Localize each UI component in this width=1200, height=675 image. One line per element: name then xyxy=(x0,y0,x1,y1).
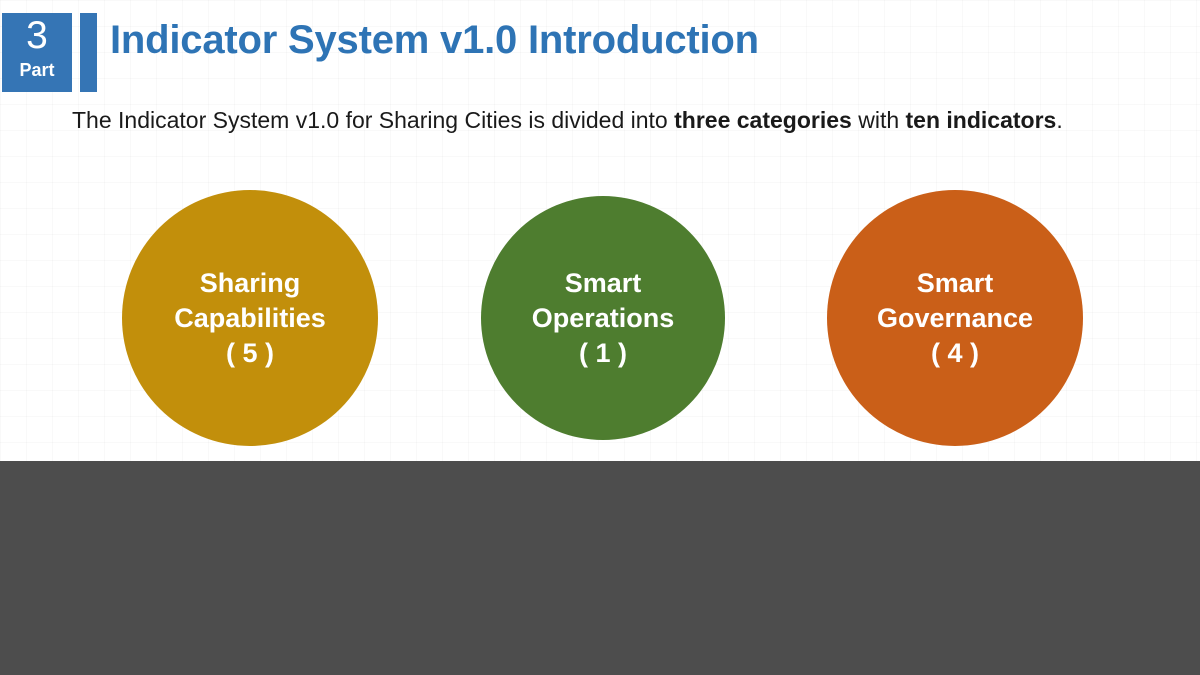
category-line-1: Sharing xyxy=(200,268,301,298)
intro-text-before: The Indicator System v1.0 for Sharing Ci… xyxy=(72,107,674,133)
header-accent-bar xyxy=(80,13,97,92)
intro-text-after: . xyxy=(1056,107,1062,133)
category-circle-smart-governance: Smart Governance ( 4 ) xyxy=(827,190,1083,446)
slide-header: 3 Part Indicator System v1.0 Introductio… xyxy=(0,0,1200,100)
category-circle-label: Smart Operations ( 1 ) xyxy=(518,266,689,371)
category-circle-label: Smart Governance ( 4 ) xyxy=(863,266,1047,371)
category-circle-label: Sharing Capabilities ( 5 ) xyxy=(160,266,340,371)
intro-paragraph: The Indicator System v1.0 for Sharing Ci… xyxy=(72,104,1112,136)
category-count: ( 1 ) xyxy=(579,338,627,368)
category-line-2: Capabilities xyxy=(174,303,326,333)
intro-text-middle: with xyxy=(852,107,906,133)
part-number-badge: 3 Part xyxy=(2,13,72,92)
category-count: ( 5 ) xyxy=(226,338,274,368)
category-circle-sharing-capabilities: Sharing Capabilities ( 5 ) xyxy=(122,190,378,446)
category-circle-smart-operations: Smart Operations ( 1 ) xyxy=(481,196,725,440)
intro-bold-three-categories: three categories xyxy=(674,107,852,133)
category-line-2: Operations xyxy=(532,303,675,333)
category-line-1: Smart xyxy=(917,268,994,298)
category-count: ( 4 ) xyxy=(931,338,979,368)
indicator-band: •Goods and Services •Transportation •Pub… xyxy=(0,461,1200,675)
category-line-1: Smart xyxy=(565,268,642,298)
part-label: Part xyxy=(19,59,54,81)
part-number: 3 xyxy=(26,15,48,57)
intro-bold-ten-indicators: ten indicators xyxy=(906,107,1057,133)
page-title: Indicator System v1.0 Introduction xyxy=(110,12,759,68)
category-line-2: Governance xyxy=(877,303,1033,333)
slide-canvas: 3 Part Indicator System v1.0 Introductio… xyxy=(0,0,1200,675)
